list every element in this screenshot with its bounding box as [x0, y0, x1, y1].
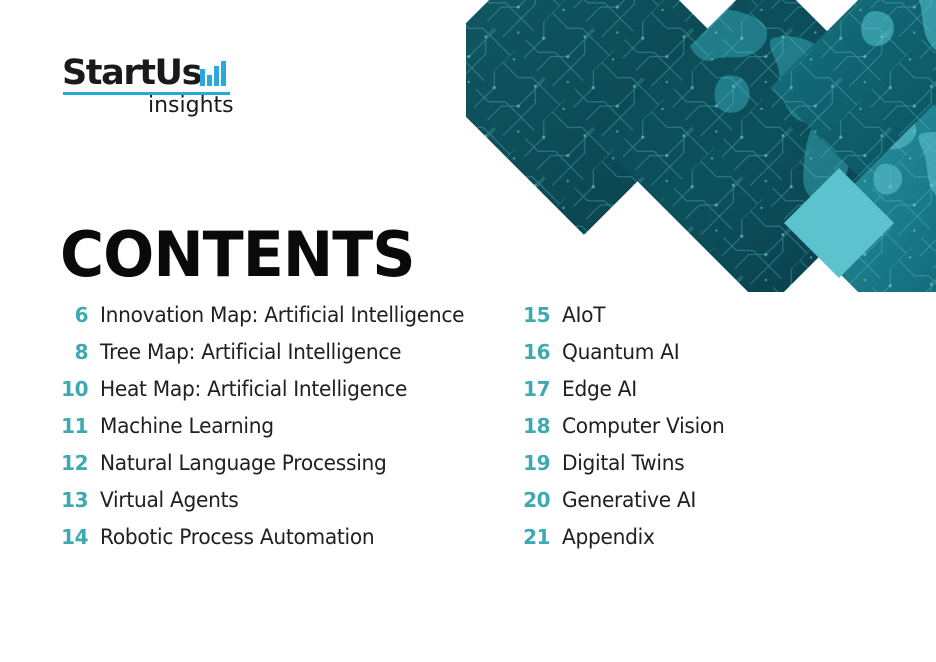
- toc-page-number: 13: [56, 488, 88, 512]
- toc-entry[interactable]: 11 Machine Learning: [56, 414, 518, 451]
- toc-entry[interactable]: 12 Natural Language Processing: [56, 451, 518, 488]
- toc-page-number: 18: [518, 414, 550, 438]
- toc-entry-label: Digital Twins: [562, 451, 684, 475]
- toc-entry-label: Innovation Map: Artificial Intelligence: [100, 303, 464, 327]
- toc-entry[interactable]: 16 Quantum AI: [518, 340, 896, 377]
- toc-entry[interactable]: 14 Robotic Process Automation: [56, 525, 518, 562]
- bar-chart-icon: [199, 60, 229, 90]
- startus-insights-logo[interactable]: StartUs insights: [62, 56, 237, 118]
- page-title: CONTENTS: [60, 224, 415, 286]
- toc-entry-label: Edge AI: [562, 377, 637, 401]
- toc-page-number: 17: [518, 377, 550, 401]
- toc-entry-label: Tree Map: Artificial Intelligence: [100, 340, 401, 364]
- toc-entry-label: Heat Map: Artificial Intelligence: [100, 377, 407, 401]
- diamond-tile-4: [796, 90, 936, 292]
- toc-page-number: 12: [56, 451, 88, 475]
- toc-page-number: 10: [56, 377, 88, 401]
- toc-entry-label: Natural Language Processing: [100, 451, 387, 475]
- toc-entry-label: Robotic Process Automation: [100, 525, 374, 549]
- toc-entry[interactable]: 20 Generative AI: [518, 488, 896, 525]
- toc-entry[interactable]: 15 AIoT: [518, 303, 896, 340]
- toc-page-number: 20: [518, 488, 550, 512]
- diamond-tile-3: [766, 0, 936, 290]
- toc-page-number: 8: [56, 340, 88, 364]
- toc-entry-label: AIoT: [562, 303, 605, 327]
- logo-tagline: insights: [148, 94, 234, 118]
- toc-page-number: 19: [518, 451, 550, 475]
- toc-entry[interactable]: 6 Innovation Map: Artificial Intelligenc…: [56, 303, 518, 340]
- toc-page-number: 6: [56, 303, 88, 327]
- toc-entry[interactable]: 21 Appendix: [518, 525, 896, 562]
- table-of-contents: 6 Innovation Map: Artificial Intelligenc…: [56, 303, 896, 562]
- toc-entry-label: Computer Vision: [562, 414, 724, 438]
- toc-entry[interactable]: 10 Heat Map: Artificial Intelligence: [56, 377, 518, 414]
- toc-entry[interactable]: 8 Tree Map: Artificial Intelligence: [56, 340, 518, 377]
- toc-right-column: 15 AIoT 16 Quantum AI 17 Edge AI 18 Comp…: [518, 303, 896, 562]
- logo-wordmark: StartUs: [62, 56, 201, 91]
- toc-page-number: 11: [56, 414, 88, 438]
- toc-entry-label: Appendix: [562, 525, 655, 549]
- toc-entry[interactable]: 13 Virtual Agents: [56, 488, 518, 525]
- diamond-tile-2: [586, 0, 936, 292]
- corner-decoration-artwork: [466, 0, 936, 292]
- toc-entry[interactable]: 18 Computer Vision: [518, 414, 896, 451]
- diamond-tile-1: [466, 0, 806, 292]
- diamond-tile-accent: [784, 168, 894, 278]
- toc-entry-label: Generative AI: [562, 488, 696, 512]
- toc-entry[interactable]: 17 Edge AI: [518, 377, 896, 414]
- toc-page-number: 21: [518, 525, 550, 549]
- toc-page-number: 16: [518, 340, 550, 364]
- toc-entry-label: Virtual Agents: [100, 488, 238, 512]
- toc-page-number: 15: [518, 303, 550, 327]
- toc-entry[interactable]: 19 Digital Twins: [518, 451, 896, 488]
- toc-left-column: 6 Innovation Map: Artificial Intelligenc…: [56, 303, 518, 562]
- toc-entry-label: Quantum AI: [562, 340, 679, 364]
- toc-page-number: 14: [56, 525, 88, 549]
- toc-entry-label: Machine Learning: [100, 414, 274, 438]
